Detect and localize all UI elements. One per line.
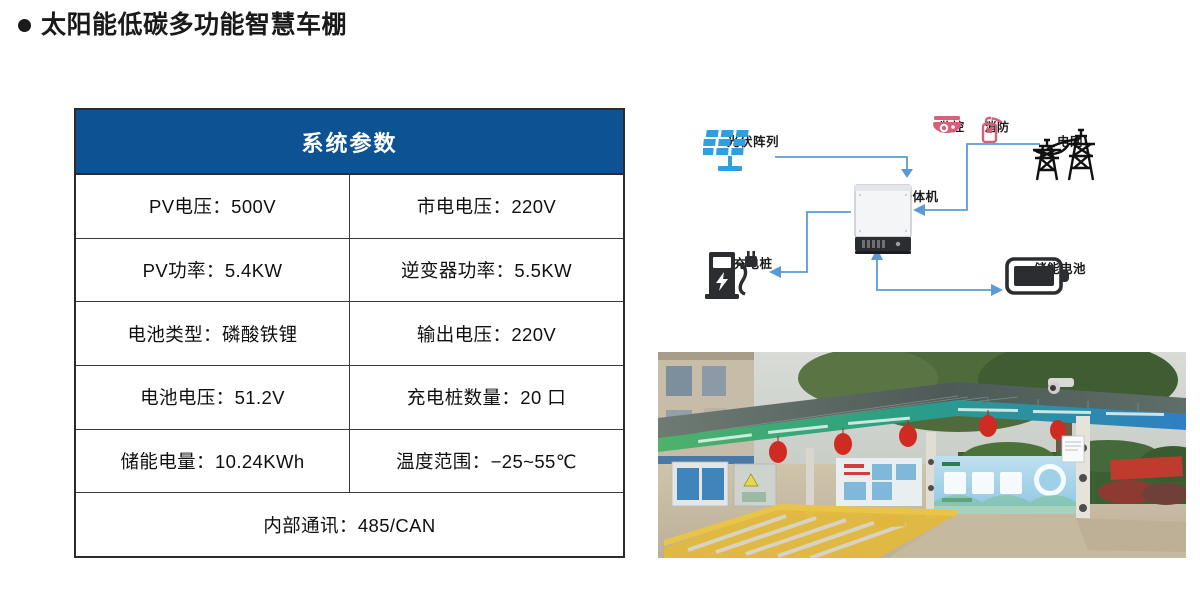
diagram-node-inverter: 光储一体机 [851, 183, 961, 205]
table-cell: 市电电压：220V [350, 175, 623, 238]
bullet-dot-icon [18, 19, 31, 32]
table-body: PV电压：500V 市电电压：220V PV功率：5.4KW 逆变器功率：5.5… [76, 175, 623, 556]
table-header-label: 系统参数 [301, 126, 397, 158]
table-cell: PV功率：5.4KW [76, 239, 350, 302]
table-cell: 充电桩数量：20 口 [350, 366, 623, 429]
table-row: 电池电压：51.2V 充电桩数量：20 口 [76, 366, 623, 430]
table-cell: 储能电量：10.24KWh [76, 430, 350, 493]
table-row: 储能电量：10.24KWh 温度范围：−25~55℃ [76, 430, 623, 494]
diagram-node-battery: 储能电池 [1005, 255, 1115, 277]
table-cell: 电池类型：磷酸铁锂 [76, 302, 350, 365]
table-row: PV功率：5.4KW 逆变器功率：5.5KW [76, 239, 623, 303]
table-cell: 输出电压：220V [350, 302, 623, 365]
diagram-node-grid: 电网 [1025, 128, 1115, 150]
page-title-text: 太阳能低碳多功能智慧车棚 [41, 13, 347, 38]
table-row: 电池类型：磷酸铁锂 输出电压：220V [76, 302, 623, 366]
table-cell: 温度范围：−25~55℃ [350, 430, 623, 493]
diagram-node-charging-pile: 充电桩 [703, 250, 803, 272]
table-row-merged: 内部通讯：485/CAN [76, 493, 623, 556]
table-cell: 电池电压：51.2V [76, 366, 350, 429]
system-flow-diagram: 光伏阵列 监控 [655, 100, 1200, 340]
carport-photo-illustration [658, 352, 1186, 558]
diagram-node-monitor: 监控 [932, 115, 972, 135]
carport-photo [658, 352, 1186, 558]
table-row: PV电压：500V 市电电压：220V [76, 175, 623, 239]
diagram-node-pv: 光伏阵列 [703, 128, 803, 150]
slide-page: 太阳能低碳多功能智慧车棚 系统参数 PV电压：500V 市电电压：220V PV… [0, 0, 1200, 605]
table-header: 系统参数 [76, 110, 623, 175]
system-parameters-table: 系统参数 PV电压：500V 市电电压：220V PV功率：5.4KW 逆变器功… [74, 108, 625, 558]
table-cell: 内部通讯：485/CAN [76, 493, 623, 556]
page-title: 太阳能低碳多功能智慧车棚 [18, 13, 347, 38]
table-cell: PV电压：500V [76, 175, 350, 238]
table-cell: 逆变器功率：5.5KW [350, 239, 623, 302]
diagram-node-fire: 消防 [977, 115, 1017, 135]
